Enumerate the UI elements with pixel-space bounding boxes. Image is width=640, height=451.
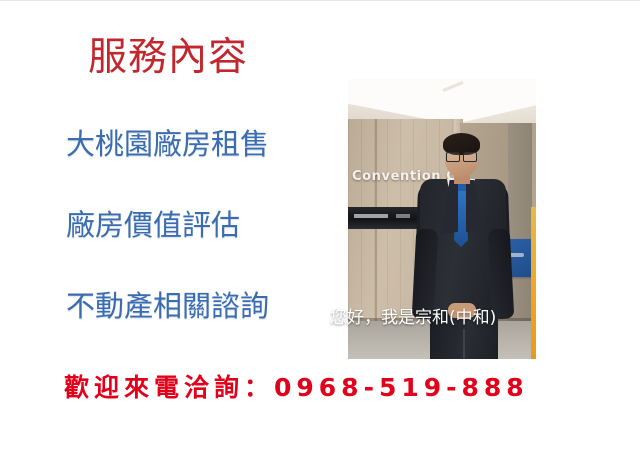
list-item-service-3: 不動產相關諮詢: [66, 289, 316, 323]
service-list: 大桃園廠房租售 廠房價值評估 不動產相關諮詢: [66, 127, 316, 323]
person-glasses: [446, 152, 477, 161]
person-leg-seam: [463, 329, 465, 359]
contact-phone-line: 歡迎來電洽詢：0968-519-888: [64, 373, 529, 403]
slide-canvas: 服務內容 大桃園廠房租售 廠房價值評估 不動產相關諮詢 歡迎來電洽詢：0968-…: [0, 0, 640, 451]
photo-caption: 您好，我是宗和(中和): [330, 307, 496, 329]
person-arm-right: [488, 228, 515, 319]
list-item-service-1: 大桃園廠房租售: [66, 127, 316, 161]
person-arm-left: [412, 228, 439, 319]
list-item-service-2: 廠房價值評估: [66, 208, 316, 242]
page-title: 服務內容: [88, 35, 248, 81]
